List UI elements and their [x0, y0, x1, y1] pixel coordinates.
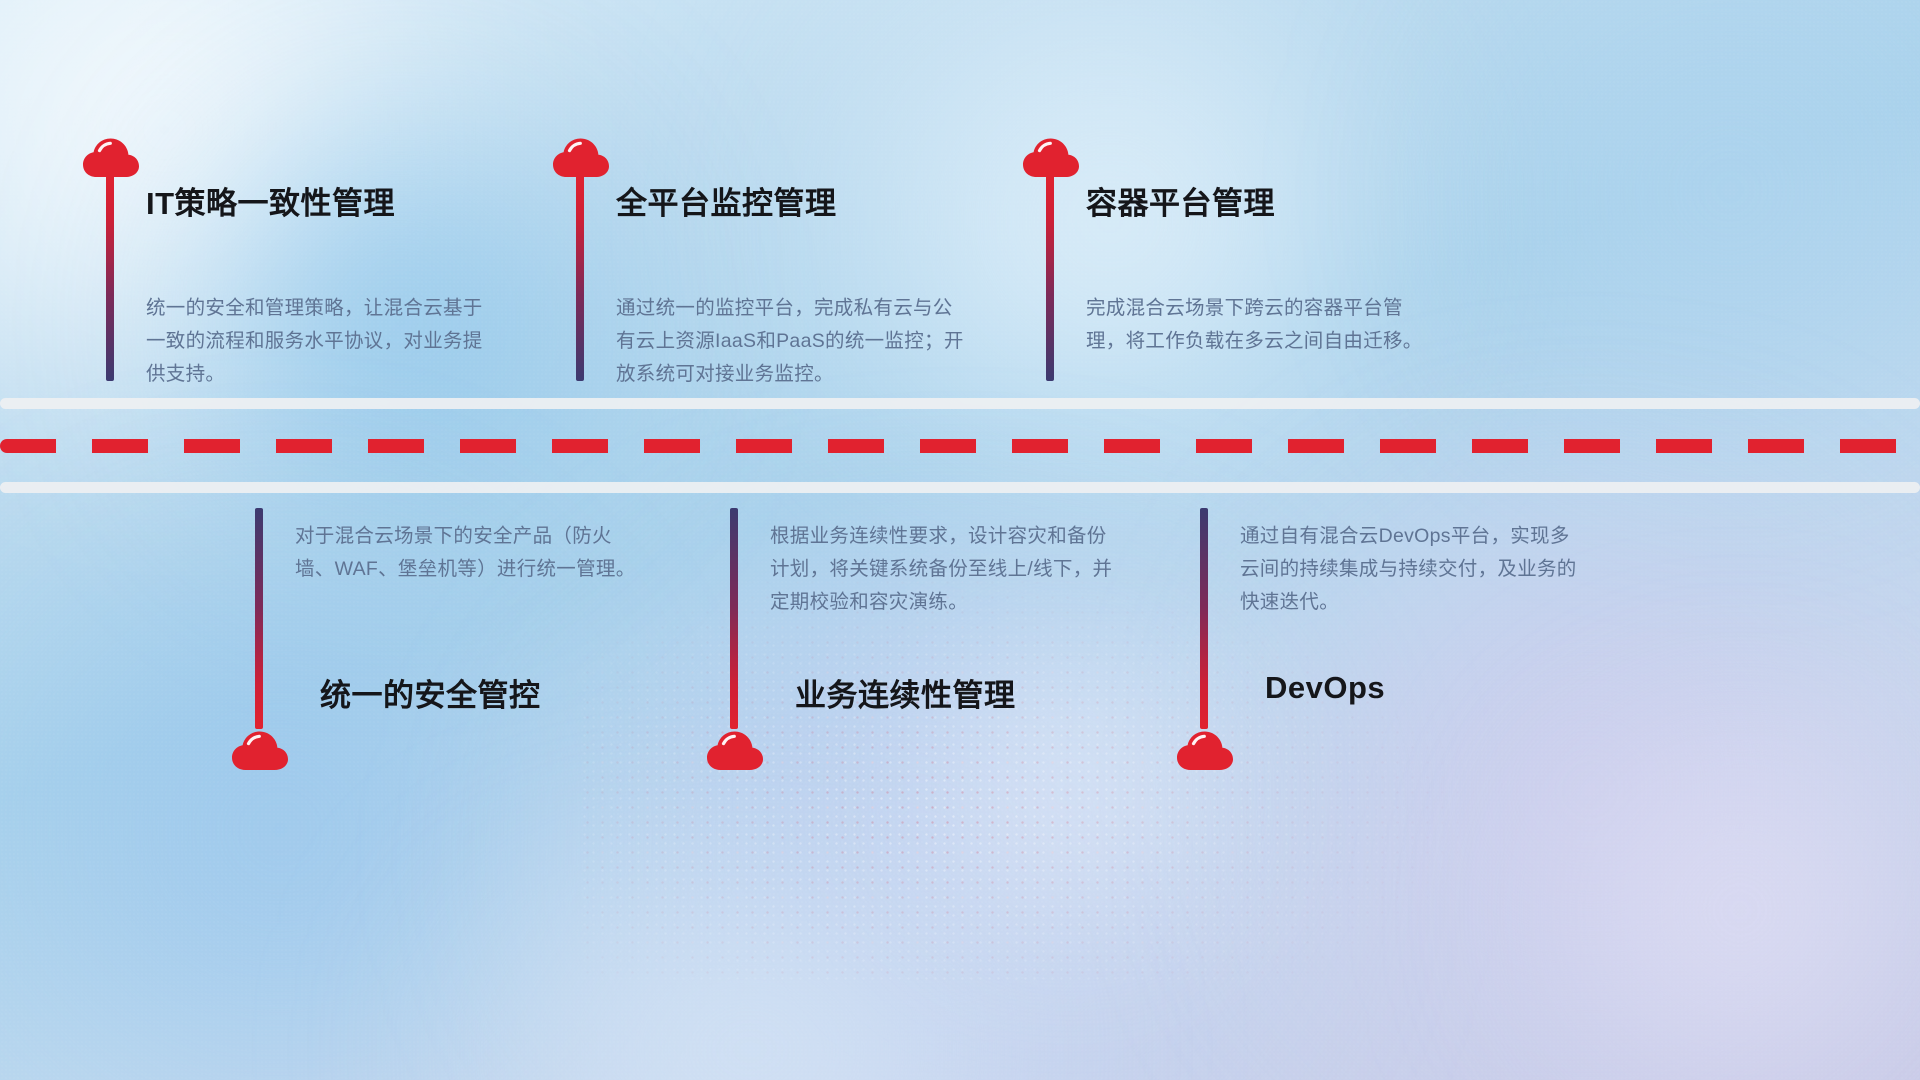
top-column-3[interactable]: 容器平台管理 完成混合云场景下跨云的容器平台管理，将工作负载在多云之间自由迁移。	[940, 0, 1540, 400]
bottom-column-3[interactable]: 通过自有混合云DevOps平台，实现多云间的持续集成与持续交付，及业务的快速迭代…	[1085, 500, 1705, 960]
bottom-column-3-body: 通过自有混合云DevOps平台，实现多云间的持续集成与持续交付，及业务的快速迭代…	[1240, 520, 1588, 619]
cloud-icon	[1020, 131, 1082, 179]
cloud-icon	[550, 131, 612, 179]
connector-stem	[1200, 508, 1208, 729]
top-column-1-body: 统一的安全和管理策略，让混合云基于一致的流程和服务水平协议，对业务提供支持。	[146, 292, 496, 391]
bottom-column-1-title: 统一的安全管控	[320, 670, 541, 715]
connector-stem	[255, 508, 263, 729]
road-edge-bottom	[0, 482, 1920, 493]
bottom-column-2-body: 根据业务连续性要求，设计容灾和备份计划，将关键系统备份至线上/线下，并定期校验和…	[770, 520, 1118, 619]
connector-stem	[1046, 173, 1054, 381]
road-centerline-dashed	[0, 439, 1920, 453]
top-column-3-title: 容器平台管理	[1086, 178, 1275, 223]
top-column-2-title: 全平台监控管理	[616, 178, 837, 223]
connector-stem	[730, 508, 738, 729]
connector-stem	[106, 173, 114, 381]
bottom-column-1-body: 对于混合云场景下的安全产品（防火墙、WAF、堡垒机等）进行统一管理。	[295, 520, 647, 586]
cloud-icon	[704, 724, 766, 772]
bottom-column-3-title: DevOps	[1265, 670, 1385, 706]
cloud-icon	[229, 724, 291, 772]
cloud-icon	[80, 131, 142, 179]
top-column-1-title: IT策略一致性管理	[146, 178, 395, 223]
top-column-2-body: 通过统一的监控平台，完成私有云与公有云上资源IaaS和PaaS的统一监控；开放系…	[616, 292, 972, 391]
cloud-icon	[1174, 724, 1236, 772]
bottom-column-2-title: 业务连续性管理	[795, 670, 1016, 715]
connector-stem	[576, 173, 584, 381]
top-column-3-body: 完成混合云场景下跨云的容器平台管理，将工作负载在多云之间自由迁移。	[1086, 292, 1434, 358]
road-divider	[0, 398, 1920, 498]
